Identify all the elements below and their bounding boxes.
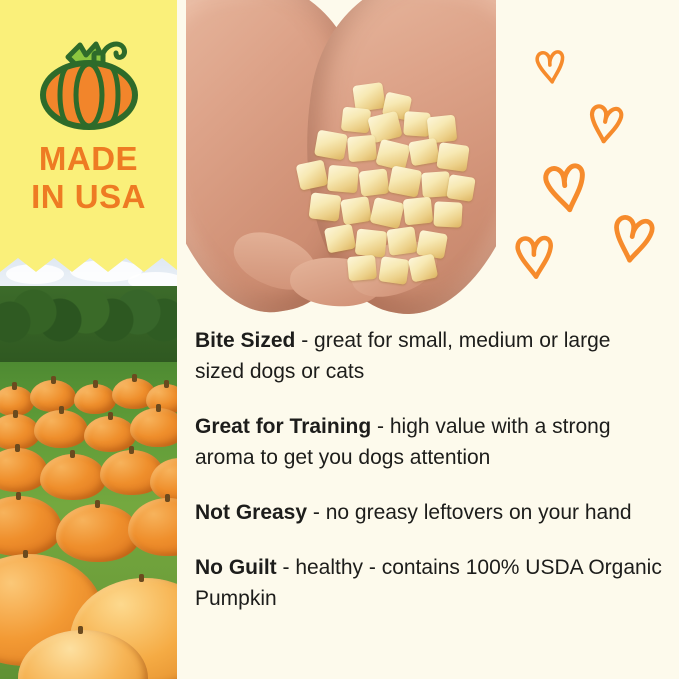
treat-cube <box>347 135 377 162</box>
treat-cube <box>446 174 475 202</box>
bullet-description: - no greasy leftovers on your hand <box>307 501 632 524</box>
treeline <box>0 286 177 368</box>
heart-icon <box>600 206 663 269</box>
pumpkin <box>34 410 88 448</box>
treat-cube <box>324 224 356 254</box>
heart-icon <box>528 44 572 88</box>
treat-cube <box>386 226 417 256</box>
badge-line-2: IN USA <box>0 178 177 216</box>
badge-line-1: MADE <box>39 140 138 177</box>
heart-decorations <box>500 28 679 320</box>
treat-cube <box>378 256 409 285</box>
bullet-no-guilt: No Guilt - healthy - contains 100% USDA … <box>195 552 665 614</box>
made-in-usa-badge-panel: MADE IN USA <box>0 0 177 272</box>
pumpkin-patch-photo <box>0 258 177 679</box>
pumpkin <box>84 416 136 452</box>
treat-cube <box>296 159 329 190</box>
bullet-term: No Guilt <box>195 556 277 579</box>
pumpkin-icon <box>36 27 142 131</box>
treat-cube <box>408 254 438 283</box>
bullet-not-greasy: Not Greasy - no greasy leftovers on your… <box>195 497 665 528</box>
treat-cube <box>355 229 388 258</box>
left-column: MADE IN USA <box>0 0 177 679</box>
treat-cube <box>369 197 404 229</box>
pumpkin <box>40 454 106 500</box>
treat-cube <box>309 192 342 221</box>
bullet-great-for-training: Great for Training - high value with a s… <box>195 411 665 473</box>
made-in-usa-text: MADE IN USA <box>0 140 177 216</box>
pumpkin <box>130 408 177 447</box>
pumpkin <box>30 380 76 412</box>
heart-icon <box>506 228 562 284</box>
treat-cube <box>314 130 348 161</box>
treat-cube <box>359 168 390 196</box>
treat-cube <box>340 196 372 225</box>
bullet-bite-sized: Bite Sized - great for small, medium or … <box>195 325 665 387</box>
heart-icon <box>580 98 631 149</box>
heart-icon <box>531 153 598 220</box>
treat-cube <box>408 138 440 166</box>
treat-cube <box>403 197 434 226</box>
treat-cube <box>433 201 462 227</box>
treat-cube <box>347 255 377 281</box>
hands-with-treats-photo <box>186 0 496 318</box>
treat-pile <box>292 84 478 292</box>
treat-cube <box>327 165 359 194</box>
infographic-page: MADE IN USA <box>0 0 679 679</box>
treat-cube <box>436 142 469 172</box>
bullet-term: Bite Sized <box>195 329 295 352</box>
feature-bullet-list: Bite Sized - great for small, medium or … <box>195 325 665 614</box>
bullet-term: Not Greasy <box>195 501 307 524</box>
pumpkin <box>74 384 116 414</box>
treat-cube <box>388 165 423 197</box>
treat-cube <box>341 107 371 134</box>
bullet-term: Great for Training <box>195 415 371 438</box>
